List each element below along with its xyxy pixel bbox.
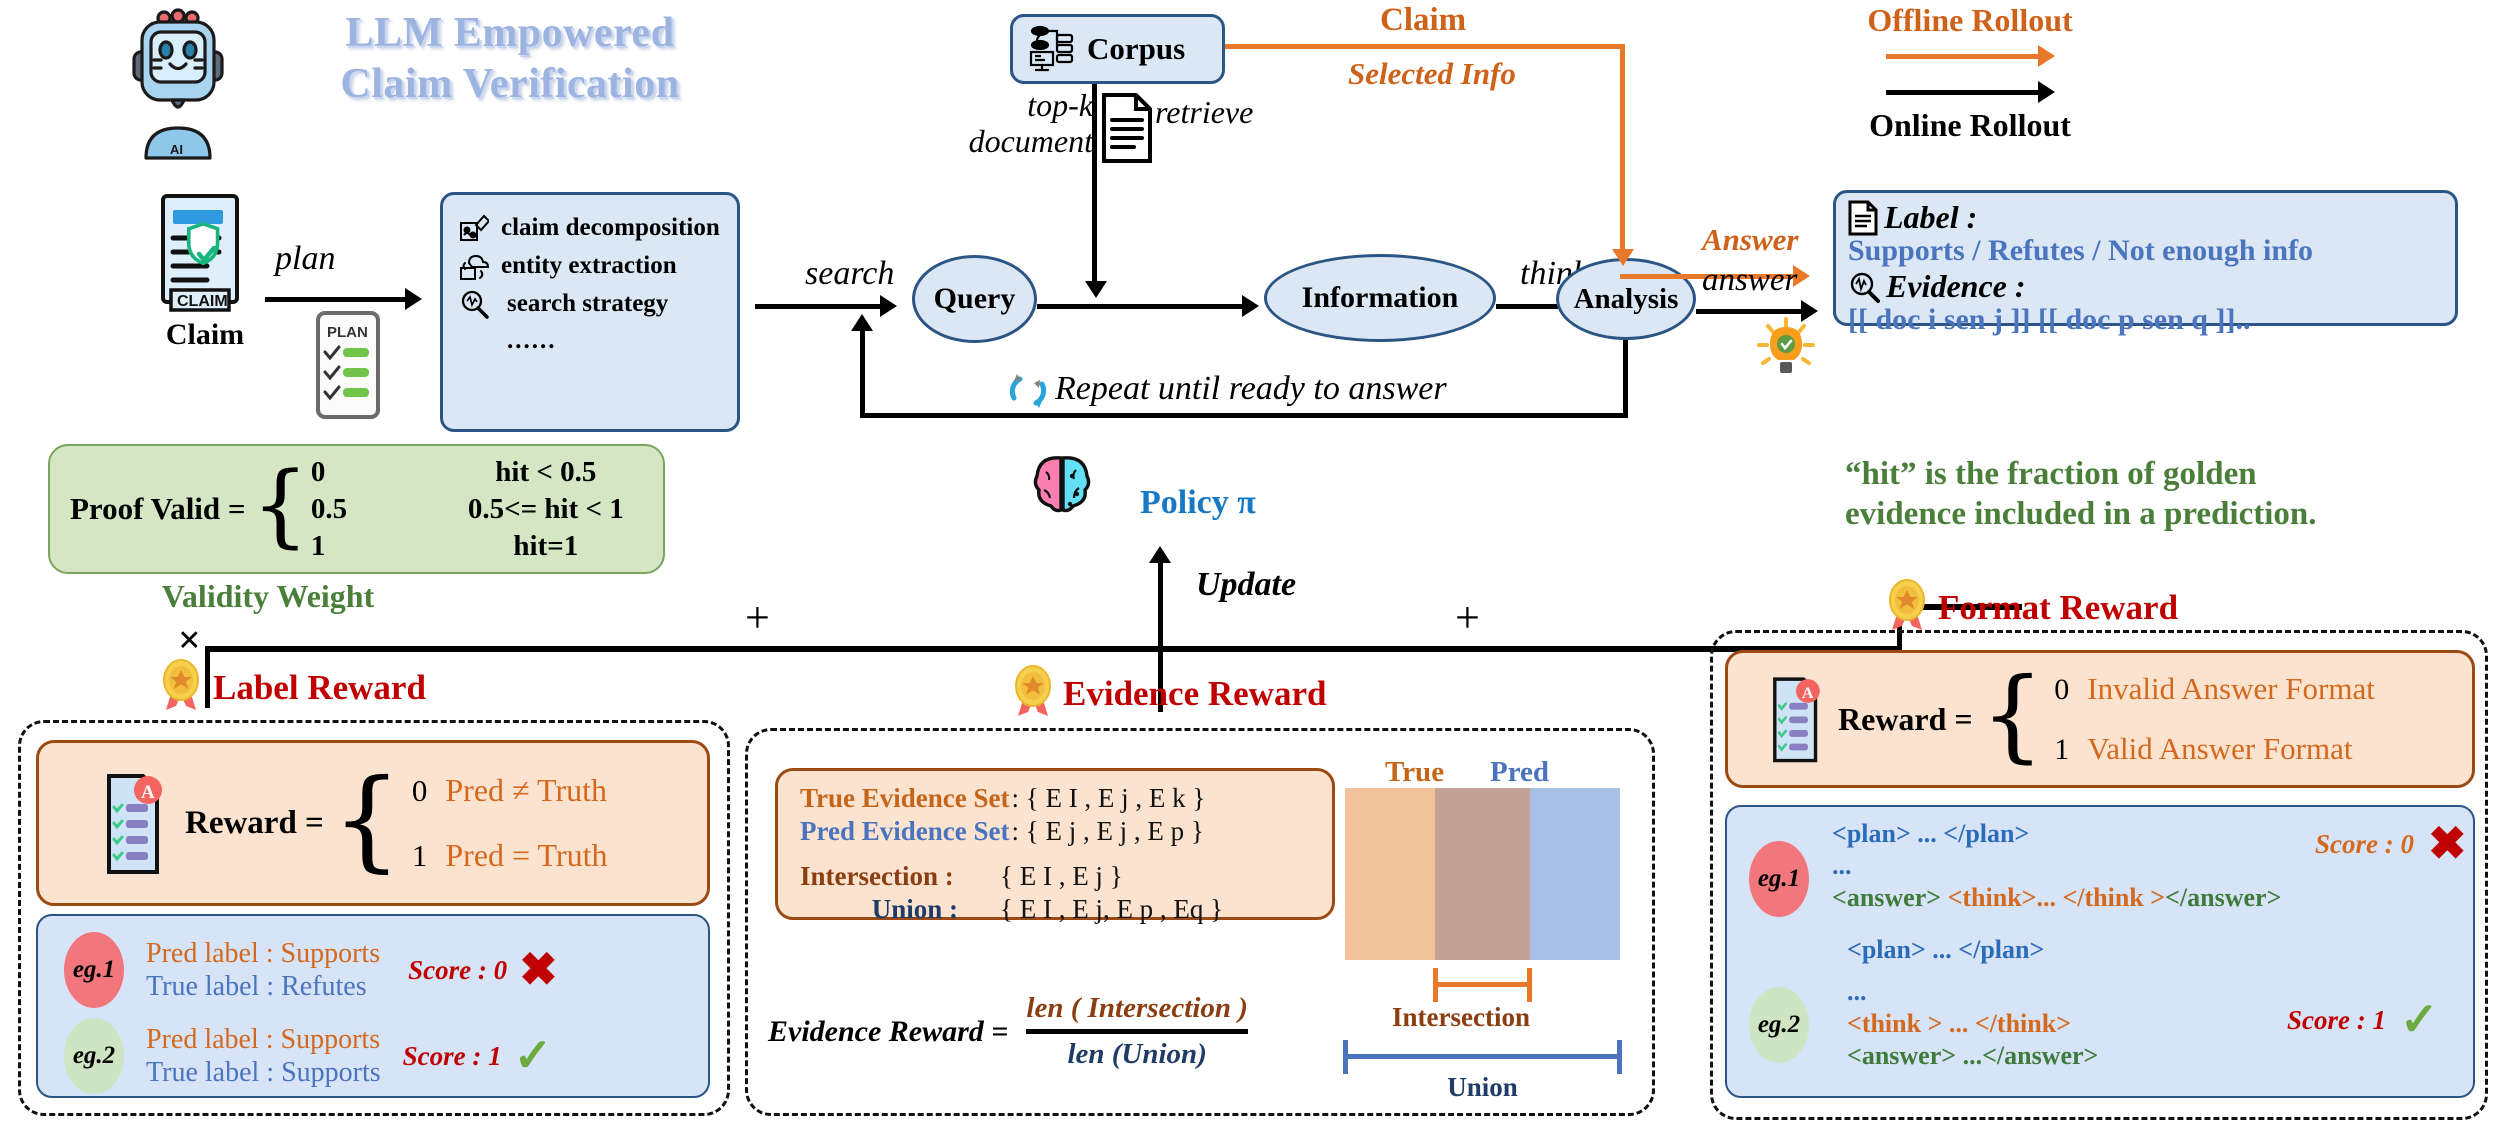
pred-evidence-set-row: Pred Evidence Set : { E j , E j , E p } [800, 816, 1332, 847]
proof-valid-value: 0.5 [311, 493, 421, 526]
claim-document-icon: CLAIM [155, 192, 251, 312]
evidence-reward-formula: Evidence Reward = len ( Intersection ) l… [768, 992, 1338, 1071]
format-reward-formula-box: A Reward = { 0 Invalid Answer Format 1 V… [1725, 650, 2475, 788]
label-reward-formula-box: A Reward = { 0 Pred ≠ Truth 1 Pred = Tru… [36, 740, 710, 906]
intersection-value: { E I , E j } [1000, 861, 1123, 892]
page-title: LLM Empowered Claim Verification [230, 8, 790, 110]
venn-true-band [1345, 788, 1435, 960]
format-example-2-score: Score : 1 ✓ [2287, 997, 2439, 1043]
claim-caption: Claim [150, 318, 260, 352]
document-icon [1100, 92, 1154, 164]
pred-evidence-set-label: Pred Evidence Set [800, 816, 1009, 847]
format-example-tag-1: eg.1 [1749, 841, 1809, 917]
topk-document-label: top-k document [963, 88, 1093, 160]
proof-valid-row: 0 hit < 0.5 [311, 456, 671, 489]
label-reward-row: 0 Pred ≠ Truth [412, 772, 608, 809]
label-reward-row: 1 Pred = Truth [412, 837, 608, 874]
format-example-line: <think > ... </think> [1847, 1009, 2287, 1039]
label-reward-example-row: eg.1 Pred label : Supports True label : … [64, 932, 708, 1008]
format-reward-row: 1 Valid Answer Format [2054, 731, 2375, 767]
plan-item-claim-decomposition[interactable]: claim decomposition [459, 213, 723, 243]
claim-edge-vertical [1620, 44, 1625, 252]
plan-item-ellipsis: ...... [459, 327, 723, 355]
lightbulb-check-icon [1755, 315, 1817, 385]
format-example-line: <plan> ... </plan> [1847, 935, 2287, 965]
format-reward-medal-icon [1885, 578, 1931, 634]
evidence-reward-medal-icon [1011, 664, 1057, 720]
format-example-tag-2: eg.2 [1749, 987, 1809, 1063]
output-label-title: Label : [1884, 199, 1977, 236]
venn-overlap-band [1435, 788, 1530, 960]
update-arrowhead [1149, 546, 1171, 563]
plus-operator-2: + [1455, 592, 1480, 643]
plan-card-icon: PLAN [315, 310, 381, 420]
true-evidence-set-value: : { E I , E j , E k } [1011, 783, 1205, 814]
node-query[interactable]: Query [912, 255, 1037, 343]
union-value: { E I , E j, E p , Eq } [1000, 894, 1223, 925]
cross-icon: ✖ [2428, 821, 2467, 867]
claim-edge-horizontal [1225, 44, 1625, 49]
validity-weight-caption: Validity Weight [48, 578, 488, 615]
label-reward-condition: Pred ≠ Truth [445, 772, 607, 809]
plus-operator-1: + [745, 592, 770, 643]
example-truth: True label : Refutes [146, 970, 380, 1003]
plan-item-label: claim decomposition [501, 214, 720, 242]
proof-valid-value: 0 [311, 456, 421, 489]
label-reward-value: 0 [412, 773, 428, 809]
puzzle-icon [459, 213, 489, 243]
output-label-values: Supports / Refutes / Not enough info [1848, 234, 2445, 268]
union-measure [1343, 1040, 1622, 1074]
format-example-1-score: Score : 0 ✖ [2315, 821, 2467, 867]
repeat-loop-left-vertical [860, 330, 865, 416]
intersection-row: Intersection : { E I , E j } [800, 861, 1332, 892]
format-reward-formula-name: Reward = [1838, 701, 1973, 738]
plan-item-search-strategy[interactable]: search strategy [459, 289, 723, 319]
page-title-line-1: LLM Empowered [230, 8, 790, 59]
query-to-information-arrow [1037, 295, 1259, 317]
plan-arrow [265, 288, 422, 310]
node-analysis[interactable]: Analysis [1556, 258, 1696, 340]
format-reward-heading: Format Reward [1938, 588, 2178, 628]
answer-label-orange: Answer [1702, 222, 1798, 258]
example-pred: Pred label : Supports [146, 937, 380, 970]
node-information[interactable]: Information [1264, 254, 1496, 342]
proof-valid-brace: { [252, 465, 309, 546]
brain-icon [1030, 452, 1094, 526]
claim-doc-label: CLAIM [177, 293, 228, 310]
format-example-score-label-2: Score : 1 [2287, 1005, 2386, 1036]
legend-online-arrow [1886, 90, 2038, 95]
svg-text:A: A [1802, 685, 1814, 702]
intersection-measure [1433, 968, 1532, 1002]
evidence-sets-box: True Evidence Set : { E I , E j , E k } … [775, 768, 1335, 920]
corpus-down-arrowhead [1085, 281, 1107, 298]
rollout-legend: Offline Rollout Online Rollout [1790, 2, 2150, 144]
evidence-reward-heading: Evidence Reward [1063, 674, 1326, 714]
topk-line-2: document [963, 124, 1093, 160]
format-example-2-lines: <plan> ... </plan> ... <think > ... </th… [1847, 935, 2287, 1071]
label-reward-example-row: eg.2 Pred label : Supports True label : … [64, 1018, 708, 1094]
selected-info-label: Selected Info [1348, 56, 1516, 92]
label-reward-formula-name: Reward = [185, 805, 324, 842]
node-analysis-label: Analysis [1574, 283, 1679, 316]
example-score-label-2: Score : 1 [403, 1041, 502, 1072]
repeat-label: Repeat until ready to answer [1055, 370, 1447, 408]
proof-valid-value: 1 [311, 530, 421, 563]
format-reward-value: 1 [2054, 733, 2069, 767]
times-operator: × [178, 616, 201, 663]
true-evidence-set-row: True Evidence Set : { E I , E j , E k } [800, 783, 1332, 814]
update-label: Update [1196, 566, 1296, 604]
legend-online-label: Online Rollout [1790, 107, 2150, 144]
label-reward-medal-icon [159, 658, 205, 714]
corpus-box[interactable]: Corpus [1010, 14, 1225, 84]
output-evidence-values: [[ doc i sen j ]] [[ doc p sen q ]].. [1848, 303, 2445, 337]
hit-note-line-2: evidence included in a prediction. [1845, 495, 2455, 535]
fraction-bar [1026, 1029, 1248, 1034]
label-reward-condition: Pred = Truth [445, 837, 607, 874]
node-query-label: Query [934, 282, 1016, 316]
topk-line-1: top-k [963, 88, 1093, 124]
corpus-label: Corpus [1087, 31, 1185, 67]
grade-doc-icon: A [1768, 670, 1824, 768]
claim-edge-label: Claim [1380, 2, 1466, 39]
magnifier-pulse-icon [1848, 271, 1880, 303]
claim-edge-arrowhead [1612, 249, 1634, 266]
output-evidence-title: Evidence : [1886, 268, 2026, 305]
svg-text:A: A [141, 782, 155, 803]
check-icon: ✓ [514, 1033, 553, 1079]
venn-union-label: Union [1343, 1072, 1622, 1103]
true-evidence-set-label: True Evidence Set [800, 783, 1009, 814]
label-reward-value: 1 [412, 838, 428, 874]
format-example-line: ... [1832, 851, 2302, 881]
format-reward-examples-box: eg.1 <plan> ... </plan> ... <answer> <th… [1725, 805, 2475, 1098]
evidence-reward-formula-name: Evidence Reward = [768, 1015, 1008, 1049]
plan-item-entity-extraction[interactable]: entity extraction [459, 251, 723, 281]
format-example-line: <answer> ...</answer> [1847, 1041, 2287, 1071]
venn-pred-label: Pred [1490, 756, 1549, 789]
robot-mascot-icon: AI [128, 8, 228, 160]
cross-icon: ✖ [519, 947, 558, 993]
plan-items-box: claim decomposition entity extraction se… [440, 192, 740, 432]
proof-valid-condition: hit=1 [421, 530, 671, 563]
format-example-1-lines: <plan> ... </plan> ... <answer> <think>.… [1832, 819, 2302, 913]
magnifier-pulse-icon [459, 289, 489, 319]
repeat-loop-arrowhead [851, 314, 873, 331]
plan-edge-label: plan [275, 240, 335, 278]
example-score-label-1: Score : 0 [408, 955, 507, 986]
union-label: Union : [800, 894, 1000, 925]
format-example-line: <answer> <think>... </think ></answer> [1832, 883, 2302, 913]
node-information-label: Information [1302, 281, 1459, 315]
svg-text:AI: AI [170, 142, 183, 157]
legend-online-arrowhead [2038, 81, 2055, 103]
check-icon: ✓ [2400, 997, 2439, 1043]
example-truth: True label : Supports [146, 1056, 381, 1089]
venn-pred-band [1530, 788, 1620, 960]
proof-valid-row: 1 hit=1 [311, 530, 671, 563]
answer-label-black: answer [1702, 262, 1797, 299]
plan-item-label: search strategy [507, 290, 668, 318]
search-edge-label: search [805, 255, 894, 293]
intersection-label: Intersection : [800, 861, 1000, 892]
venn-intersection-label: Intersection [1392, 1002, 1530, 1033]
hit-note: “hit” is the fraction of golden evidence… [1845, 455, 2455, 534]
repeat-icon [1005, 368, 1051, 414]
pred-evidence-set-value: : { E j , E j , E p } [1011, 816, 1203, 847]
output-box: Label : Supports / Refutes / Not enough … [1833, 190, 2458, 326]
legend-offline-arrowhead [2038, 45, 2055, 67]
legend-offline-label: Offline Rollout [1790, 2, 2150, 39]
evidence-reward-numerator: len ( Intersection ) [1026, 992, 1248, 1025]
format-reward-brace: { [1981, 670, 2045, 760]
example-tag-2: eg.2 [64, 1018, 124, 1094]
search-arrow [755, 295, 897, 317]
format-reward-value: 0 [2054, 673, 2069, 707]
svg-text:PLAN: PLAN [327, 324, 368, 341]
label-reward-stem [205, 646, 210, 708]
proof-valid-condition: 0.5<= hit < 1 [421, 493, 671, 526]
venn-true-label: True [1385, 756, 1444, 789]
hit-note-line-1: “hit” is the fraction of golden [1845, 455, 2455, 495]
database-icon [1027, 24, 1077, 74]
example-tag-1: eg.1 [64, 932, 124, 1008]
format-example-score-label-1: Score : 0 [2315, 829, 2414, 860]
label-reward-examples-box: eg.1 Pred label : Supports True label : … [36, 914, 710, 1098]
proof-valid-condition: hit < 0.5 [421, 456, 671, 489]
label-reward-heading: Label Reward [213, 668, 426, 708]
plan-item-label: entity extraction [501, 252, 677, 280]
proof-valid-box: Proof Valid = { 0 hit < 0.5 0.5 0.5<= hi… [48, 444, 665, 574]
union-row: Union : { E I , E j, E p , Eq } [800, 894, 1332, 925]
grade-doc-icon: A [101, 768, 167, 878]
retrieve-label: retrieve [1155, 94, 1253, 131]
example-pred: Pred label : Supports [146, 1023, 381, 1056]
format-reward-condition: Invalid Answer Format [2087, 671, 2375, 707]
plan-item-label: ...... [507, 327, 557, 355]
policy-label: Policy π [1140, 484, 1256, 522]
cloud-extract-icon [459, 251, 489, 281]
format-reward-condition: Valid Answer Format [2087, 731, 2352, 767]
format-reward-row: 0 Invalid Answer Format [2054, 671, 2375, 707]
proof-valid-name: Proof Valid = [70, 491, 246, 527]
repeat-loop-bottom-horizontal [860, 413, 1626, 418]
repeat-loop-right-vertical [1623, 340, 1628, 418]
evidence-reward-denominator: len (Union) [1067, 1038, 1206, 1071]
label-doc-icon [1848, 200, 1878, 236]
proof-valid-row: 0.5 0.5<= hit < 1 [311, 493, 671, 526]
format-example-line: ... [1847, 977, 2287, 1007]
page-title-line-2: Claim Verification [230, 59, 790, 110]
legend-offline-arrow [1886, 54, 2038, 59]
label-reward-brace: { [332, 770, 402, 869]
reward-bus-horizontal [205, 646, 1900, 652]
format-example-line: <plan> ... </plan> [1832, 819, 2302, 849]
